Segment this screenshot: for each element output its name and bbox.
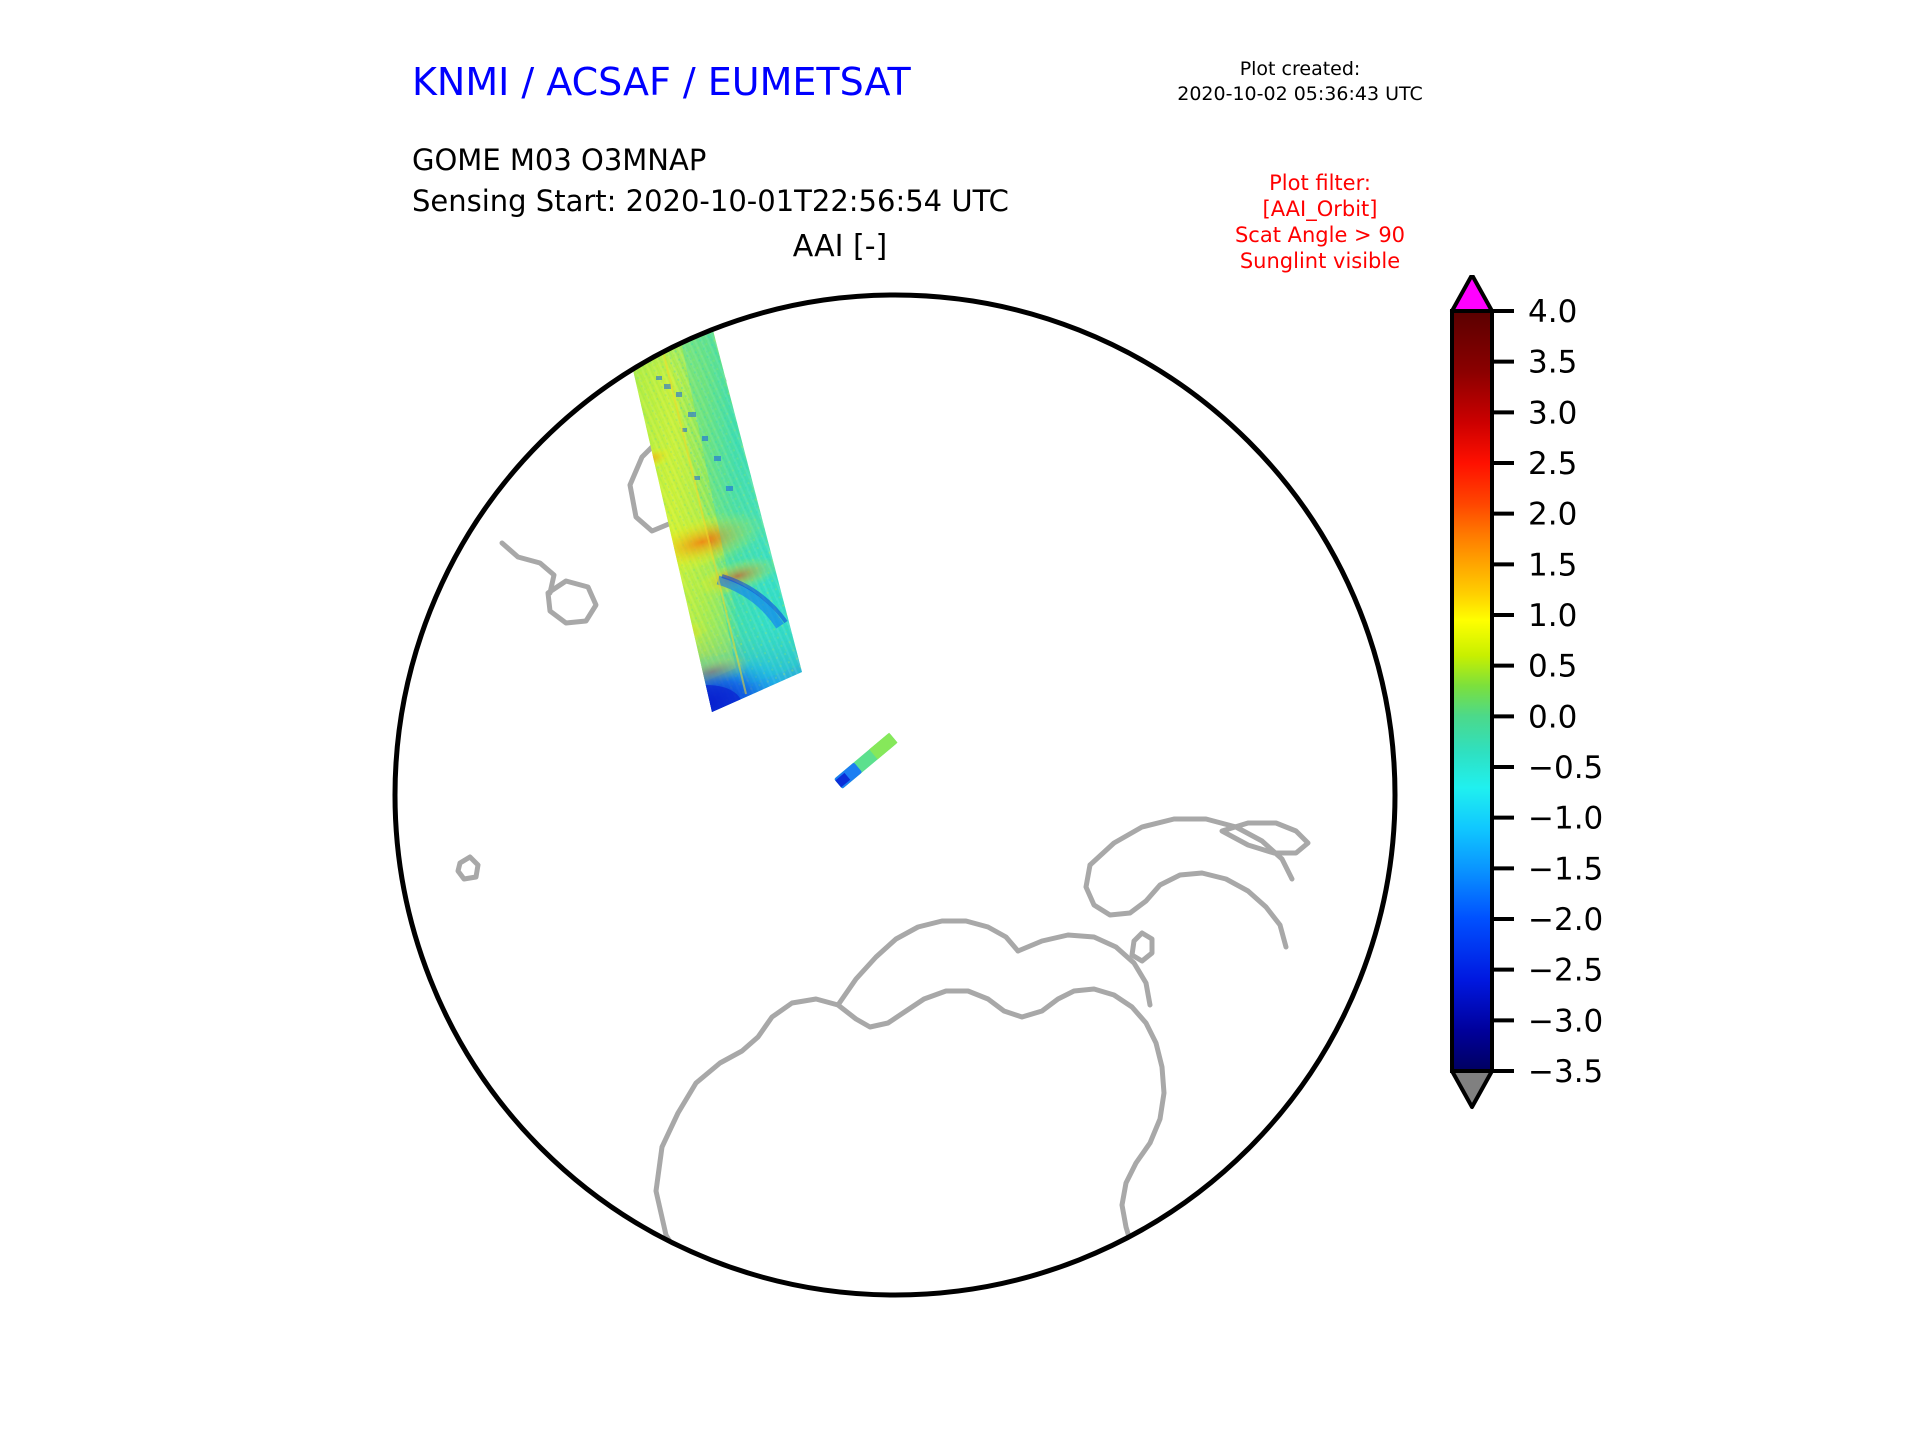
plot-filter-sunglint: Sunglint visible bbox=[1180, 248, 1460, 274]
colorbar-tick-label: 1.5 bbox=[1528, 547, 1577, 583]
globe-disc bbox=[395, 295, 1395, 1295]
colorbar-over-range-arrow bbox=[1452, 275, 1492, 311]
colorbar-tick-label: 3.5 bbox=[1528, 345, 1577, 381]
colorbar[interactable]: 4.03.53.02.52.01.51.00.50.0−0.5−1.0−1.5−… bbox=[1440, 275, 1680, 1335]
colorbar-tick-label: 0.5 bbox=[1528, 649, 1577, 685]
plot-page: KNMI / ACSAF / EUMETSAT Plot created: 20… bbox=[0, 0, 1920, 1440]
plot-filter-scat-angle: Scat Angle > 90 bbox=[1180, 222, 1460, 248]
map-panel[interactable] bbox=[390, 275, 1400, 1315]
colorbar-tick-label: 2.0 bbox=[1528, 497, 1577, 533]
orthographic-map[interactable] bbox=[390, 275, 1400, 1315]
colorbar-under-range-arrow bbox=[1452, 1071, 1492, 1107]
product-info-block: GOME M03 O3MNAP Sensing Start: 2020-10-0… bbox=[412, 140, 1009, 222]
colorbar-tick-label: 0.0 bbox=[1528, 699, 1577, 735]
colorbar-panel[interactable]: 4.03.53.02.52.01.51.00.50.0−0.5−1.0−1.5−… bbox=[1440, 275, 1680, 1335]
plot-created-label: Plot created: bbox=[1160, 57, 1440, 82]
page-title: AAI [-] bbox=[560, 229, 1120, 264]
sensing-start: Sensing Start: 2020-10-01T22:56:54 UTC bbox=[412, 181, 1009, 222]
plot-filter-block: Plot filter: [AAI_Orbit] Scat Angle > 90… bbox=[1180, 170, 1460, 274]
plot-created-block: Plot created: 2020-10-02 05:36:43 UTC bbox=[1160, 57, 1440, 107]
colorbar-tick-label: −2.5 bbox=[1528, 953, 1603, 989]
organisation-credit: KNMI / ACSAF / EUMETSAT bbox=[412, 60, 911, 104]
colorbar-tick-label: −1.0 bbox=[1528, 801, 1603, 837]
colorbar-gradient bbox=[1452, 311, 1492, 1071]
colorbar-tick-label: −3.0 bbox=[1528, 1003, 1603, 1039]
product-name: GOME M03 O3MNAP bbox=[412, 140, 1009, 181]
colorbar-tick-label: 2.5 bbox=[1528, 446, 1577, 482]
colorbar-tick-label: 4.0 bbox=[1528, 294, 1577, 330]
colorbar-tick-label: −1.5 bbox=[1528, 851, 1603, 887]
colorbar-tick-label: −3.5 bbox=[1528, 1054, 1603, 1090]
colorbar-tick-label: 1.0 bbox=[1528, 598, 1577, 634]
plot-filter-name: [AAI_Orbit] bbox=[1180, 196, 1460, 222]
colorbar-tick-label: −2.0 bbox=[1528, 902, 1603, 938]
colorbar-tick-label: 3.0 bbox=[1528, 395, 1577, 431]
colorbar-tick-label: −0.5 bbox=[1528, 750, 1603, 786]
plot-filter-label: Plot filter: bbox=[1180, 170, 1460, 196]
colorbar-ticks: 4.03.53.02.52.01.51.00.50.0−0.5−1.0−1.5−… bbox=[1492, 294, 1603, 1090]
plot-created-value: 2020-10-02 05:36:43 UTC bbox=[1160, 82, 1440, 107]
